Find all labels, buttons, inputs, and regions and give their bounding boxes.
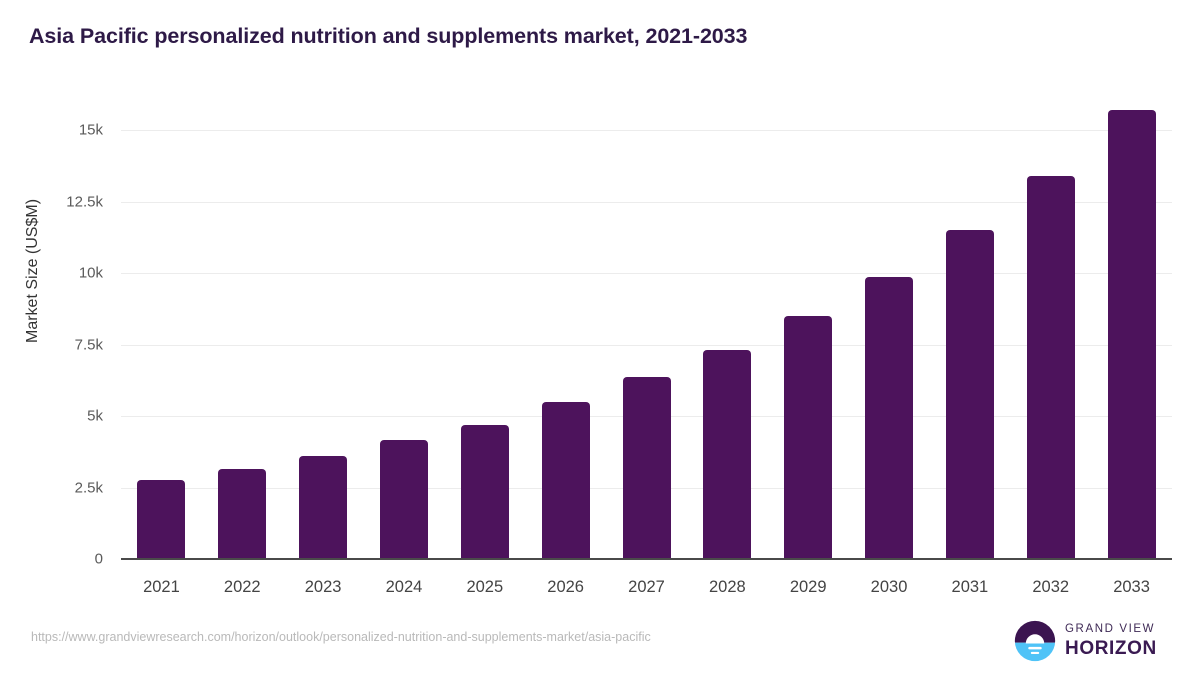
bar-2026[interactable] [542,402,590,559]
brand-logo[interactable]: GRAND VIEW HORIZON [1014,620,1157,662]
y-tick-label: 10k [0,265,103,282]
x-axis-line [121,558,1172,560]
x-tick-label-2026: 2026 [521,578,611,597]
x-tick-label-2029: 2029 [763,578,853,597]
x-tick-label-2027: 2027 [602,578,692,597]
x-tick-label-2022: 2022 [197,578,287,597]
logo-top-line: GRAND VIEW [1065,624,1157,636]
x-tick-label-2024: 2024 [359,578,449,597]
y-tick-label: 15k [0,122,103,139]
bar-2022[interactable] [218,469,266,559]
bar-2032[interactable] [1027,176,1075,559]
bar-2024[interactable] [380,440,428,559]
gridline [121,202,1172,203]
x-tick-label-2032: 2032 [1006,578,1096,597]
bar-2028[interactable] [703,350,751,559]
x-tick-label-2023: 2023 [278,578,368,597]
bar-2021[interactable] [137,480,185,559]
y-tick-label: 7.5k [0,336,103,353]
x-tick-label-2031: 2031 [925,578,1015,597]
gridline [121,345,1172,346]
x-tick-label-2025: 2025 [440,578,530,597]
x-tick-label-2033: 2033 [1087,578,1177,597]
plot-area [121,130,1172,559]
bar-2023[interactable] [299,456,347,559]
y-tick-label: 0 [0,551,103,568]
bar-2033[interactable] [1108,110,1156,559]
x-tick-label-2030: 2030 [844,578,934,597]
x-tick-label-2028: 2028 [682,578,772,597]
y-tick-label: 12.5k [0,193,103,210]
page-title: Asia Pacific personalized nutrition and … [29,24,747,49]
y-tick-label: 2.5k [0,479,103,496]
chart-page: Asia Pacific personalized nutrition and … [0,0,1200,675]
source-url[interactable]: https://www.grandviewresearch.com/horizo… [31,630,651,644]
bar-2031[interactable] [946,230,994,559]
logo-bottom-line: HORIZON [1065,639,1157,658]
bar-2029[interactable] [784,316,832,559]
gridline [121,273,1172,274]
horizon-logo-icon [1014,620,1056,662]
logo-text: GRAND VIEW HORIZON [1065,624,1157,658]
bar-2030[interactable] [865,277,913,559]
bar-2027[interactable] [623,377,671,559]
y-tick-label: 5k [0,408,103,425]
x-tick-label-2021: 2021 [116,578,206,597]
bar-2025[interactable] [461,425,509,559]
gridline [121,130,1172,131]
